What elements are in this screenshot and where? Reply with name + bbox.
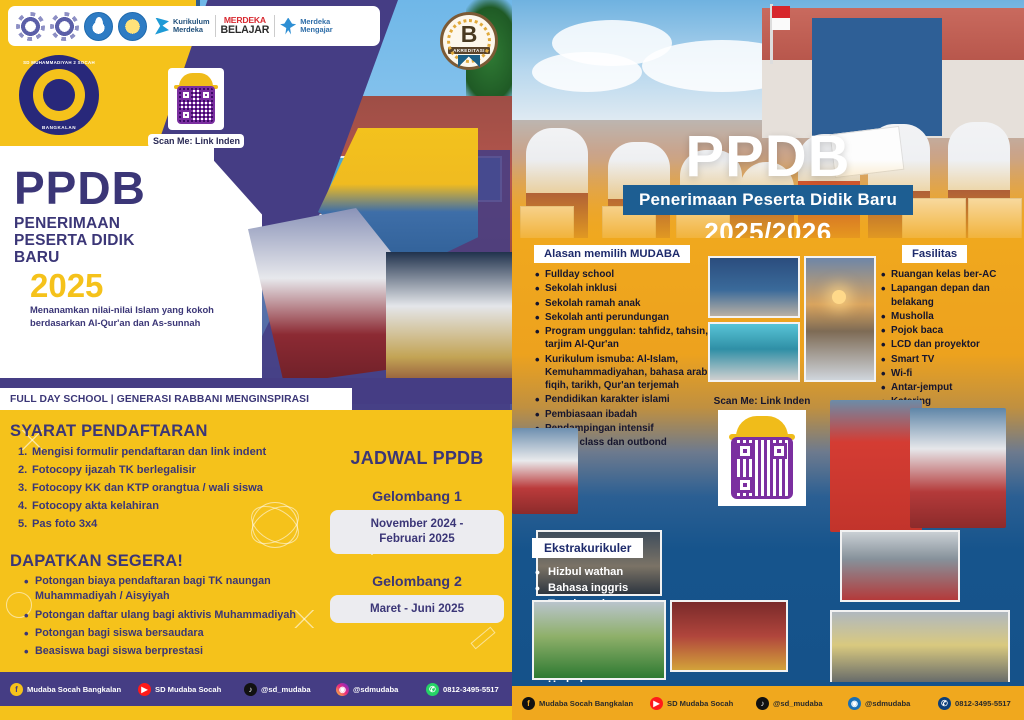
wave-1-period-line2: Februari 2025 — [336, 532, 498, 547]
footer-facebook[interactable]: f Mudaba Socah Bangkalan — [522, 697, 650, 710]
right-subtitle-band: Penerimaan Peserta Didik Baru — [623, 185, 913, 215]
merdeka-mengajar-icon — [280, 18, 296, 35]
syarat-item-4: Fotocopy akta kelahiran — [32, 500, 159, 512]
instagram-icon: ◉ — [848, 697, 861, 710]
merdeka-belajar-logo: MERDEKA BELAJAR — [221, 16, 270, 35]
list-item: Bahasa inggris — [532, 580, 712, 596]
list-item: Ruangan kelas ber-AC — [880, 268, 1024, 281]
kurikulum-merdeka-icon — [152, 18, 169, 35]
left-info-section: SYARAT PENDAFTARAN 1.Mengisi formulir pe… — [0, 410, 512, 672]
left-subtitle-line1: PENERIMAAN — [14, 215, 229, 232]
divider — [274, 15, 275, 37]
footer-whatsapp[interactable]: ✆ 0812-3495-5517 — [426, 683, 499, 696]
list-item: Sekolah inklusi — [534, 282, 714, 295]
dapatkan-heading: DAPATKAN SEGERA! — [10, 552, 328, 571]
footer-instagram-label: @sdmudaba — [865, 699, 910, 708]
list-item: Antar-jemput — [880, 381, 1024, 394]
pencil-doodle-icon — [470, 627, 495, 650]
right-poster: PPDB Penerimaan Peserta Didik Baru 2025/… — [512, 0, 1024, 720]
aisyiyah-sun-logo-2-icon — [50, 12, 79, 41]
qr-code-block-right[interactable]: Scan Me: Link Inden — [702, 396, 822, 506]
badge-ribbon-icon — [458, 55, 480, 69]
left-footer-social-bar: f Mudaba Socah Bangkalan ▶ SD Mudaba Soc… — [0, 672, 512, 706]
facebook-icon: f — [10, 683, 23, 696]
wave-2-period: Maret - Juni 2025 — [330, 595, 504, 624]
syarat-item-3: Fotocopy KK dan KTP orangtua / wali sisw… — [32, 482, 263, 494]
footer-instagram[interactable]: ◉ @sdmudaba — [848, 697, 938, 710]
list-item: Musholla — [880, 310, 1024, 323]
alasan-heading: Alasan memilih MUDABA — [534, 245, 690, 263]
syarat-list: 1.Mengisi formulir pendaftaran dan link … — [18, 444, 328, 534]
wave-1-period: November 2024 - Februari 2025 — [330, 510, 504, 554]
alasan-column: Alasan memilih MUDABA Fullday school Sek… — [534, 244, 714, 450]
slogan-text: FULL DAY SCHOOL | GENERASI RABBANI MENGI… — [0, 394, 309, 405]
list-item: 3.Fotocopy KK dan KTP orangtua / wali si… — [18, 480, 328, 498]
right-hero-text: PPDB Penerimaan Peserta Didik Baru 2025/… — [512, 130, 1024, 248]
accreditation-badge: B AKREDITASI — [440, 12, 498, 70]
syarat-item-2: Fotocopy ijazah TK berlegalisir — [32, 464, 196, 476]
fasilitas-column: Fasilitas Ruangan kelas ber-AC Lapangan … — [880, 244, 1024, 424]
footer-youtube-label: SD Mudaba Socah — [155, 685, 221, 694]
photo-hizbul-wathan — [532, 600, 666, 680]
qr-caption-right: Scan Me: Link Inden — [702, 396, 822, 407]
left-tagline-line1: Menanamkan nilai-nilai Islam yang kokoh — [30, 304, 229, 316]
list-item: Kurikulum ismuba: Al-Islam, Kemuhammadiy… — [534, 353, 714, 393]
activity-photo-cluster-top — [708, 256, 876, 388]
photo-student-left — [512, 428, 578, 514]
merdeka-mengajar-line2: Mengajar — [300, 26, 332, 34]
school-crest-logo: SD MUHAMMADIYAH 2 SOCAH BANGKALAN — [16, 52, 102, 138]
footer-tiktok[interactable]: ♪ @sd_mudaba — [756, 697, 848, 710]
list-item: Sekolah anti perundungan — [534, 311, 714, 324]
right-content-body: Alasan memilih MUDABA Fullday school Sek… — [512, 238, 1024, 684]
whatsapp-icon: ✆ — [426, 683, 439, 696]
list-item: 4.Fotocopy akta kelahiran — [18, 498, 328, 516]
list-item: LCD dan proyektor — [880, 338, 1024, 351]
left-subtitle-line2: PESERTA DIDIK — [14, 232, 229, 249]
qr-card-right[interactable] — [718, 410, 806, 506]
crest-bottom-text: BANGKALAN — [42, 125, 76, 130]
wave-1-label: Gelombang 1 — [330, 489, 504, 505]
left-subtitle-line3: BARU — [14, 249, 229, 266]
list-item: Pembiasaan ibadah — [534, 408, 714, 421]
list-item: 5.Pas foto 3x4 — [18, 516, 328, 534]
youtube-icon: ▶ — [138, 683, 151, 696]
kurikulum-merdeka-line2: Merdeka — [173, 26, 210, 34]
qr-card[interactable] — [168, 68, 224, 130]
whatsapp-icon: ✆ — [938, 697, 951, 710]
cloud — [532, 52, 642, 92]
list-item: Lapangan depan dan belakang — [880, 282, 1024, 309]
photo-student-certificate — [910, 408, 1006, 528]
list-item: Sekolah ramah anak — [534, 297, 714, 310]
dapatkan-list: Potongan biaya pendaftaran bagi TK naung… — [24, 574, 328, 660]
footer-facebook[interactable]: f Mudaba Socah Bangkalan — [10, 683, 138, 696]
list-item: Hizbul wathan — [532, 564, 712, 580]
photo-classroom-teaching — [830, 610, 1010, 688]
footer-tiktok-label: @sd_mudaba — [773, 699, 823, 708]
list-item: Program unggulan: tahfidz, tahsin, tarji… — [534, 325, 714, 352]
syarat-heading: SYARAT PENDAFTARAN — [10, 422, 328, 441]
partner-logos-strip: Kurikulum Merdeka MERDEKA BELAJAR Merdek… — [8, 6, 380, 46]
qr-eye-top-left — [737, 443, 753, 459]
footer-youtube-label: SD Mudaba Socah — [667, 699, 733, 708]
qr-eye-bottom-left — [181, 110, 191, 120]
sun — [832, 290, 846, 304]
syarat-item-1: Mengisi formulir pendaftaran dan link in… — [32, 446, 266, 458]
left-title-ppdb: PPDB — [14, 166, 229, 210]
footer-facebook-label: Mudaba Socah Bangkalan — [539, 699, 633, 708]
photo-sunset-event — [804, 256, 876, 382]
two-poster-canvas: Kurikulum Merdeka MERDEKA BELAJAR Merdek… — [0, 0, 1024, 720]
right-footer-social-bar: f Mudaba Socah Bangkalan ▶ SD Mudaba Soc… — [512, 686, 1024, 720]
qr-caption-left: Scan Me: Link Inden — [148, 134, 244, 148]
tut-wuri-handayani-logo-icon — [84, 12, 113, 41]
list-item: Pojok baca — [880, 324, 1024, 337]
qr-eye-top-left — [181, 90, 191, 100]
footer-instagram[interactable]: ◉ @sdmudaba — [336, 683, 426, 696]
left-year: 2025 — [30, 269, 229, 302]
list-item: Smart TV — [880, 353, 1024, 366]
photo-store-group — [708, 322, 800, 382]
list-item: Beasiswa bagi siswa berprestasi — [24, 644, 328, 659]
ekstrakurikuler-heading: Ekstrakurikuler — [532, 538, 643, 558]
qr-code-icon[interactable] — [731, 437, 793, 499]
footer-tiktok[interactable]: ♪ @sd_mudaba — [244, 683, 336, 696]
indonesian-flag — [772, 6, 790, 18]
wave-1-period-line1: November 2024 - — [336, 517, 498, 532]
left-hero-text: PPDB PENERIMAAN PESERTA DIDIK BARU 2025 … — [14, 166, 229, 329]
footer-tiktok-label: @sd_mudaba — [261, 685, 311, 694]
requirements-column: SYARAT PENDAFTARAN 1.Mengisi formulir pe… — [10, 422, 328, 662]
wave-2-label: Gelombang 2 — [330, 574, 504, 590]
qr-code-icon[interactable] — [177, 86, 215, 124]
tiktok-icon: ♪ — [244, 683, 257, 696]
list-item: 2.Fotocopy ijazah TK berlegalisir — [18, 462, 328, 480]
footer-youtube[interactable]: ▶ SD Mudaba Socah — [650, 697, 756, 710]
qr-eye-bottom-left — [737, 477, 753, 493]
alasan-list: Fullday school Sekolah inklusi Sekolah r… — [534, 268, 714, 449]
left-poster: Kurikulum Merdeka MERDEKA BELAJAR Merdek… — [0, 0, 512, 720]
schedule-column: JADWAL PPDB Gelombang 1 November 2024 - … — [330, 448, 504, 623]
qr-eye-top-right — [201, 90, 211, 100]
footer-whatsapp-label: 0812-3495-5517 — [955, 699, 1011, 708]
slogan-bar: FULL DAY SCHOOL | GENERASI RABBANI MENGI… — [0, 388, 352, 410]
merdeka-mengajar-logo: Merdeka Mengajar — [280, 18, 332, 35]
instagram-icon: ◉ — [336, 683, 349, 696]
list-item: Potongan daftar ulang bagi aktivis Muham… — [24, 608, 328, 623]
qr-code-block-left[interactable]: Scan Me: Link Inden — [168, 68, 224, 148]
divider — [215, 15, 216, 37]
footer-instagram-label: @sdmudaba — [353, 685, 398, 694]
list-item: Pendidikan karakter islami — [534, 393, 714, 406]
left-tagline-line2: berdasarkan Al-Qur'an dan As-sunnah — [30, 317, 229, 329]
fasilitas-heading: Fasilitas — [902, 245, 967, 263]
photo-tapak-suci — [840, 530, 960, 602]
indonesian-flag-white — [772, 18, 790, 30]
youtube-icon: ▶ — [650, 697, 663, 710]
muhammadiyah-sun-logo-1-icon — [16, 12, 45, 41]
crest-top-text: SD MUHAMMADIYAH 2 SOCAH — [23, 60, 95, 65]
facebook-icon: f — [522, 697, 535, 710]
qr-eye-top-right — [771, 443, 787, 459]
footer-whatsapp[interactable]: ✆ 0812-3495-5517 — [938, 697, 1011, 710]
kabupaten-bangkalan-logo-icon — [118, 12, 147, 41]
crest-sun-icon — [33, 69, 85, 121]
wave-2-period-line1: Maret - Juni 2025 — [336, 602, 498, 617]
photo-monument-group — [708, 256, 800, 318]
footer-whatsapp-label: 0812-3495-5517 — [443, 685, 499, 694]
photo-student-medal — [830, 400, 922, 532]
kurikulum-merdeka-logo: Kurikulum Merdeka — [152, 18, 210, 35]
left-footer-accent-bar — [0, 706, 512, 720]
list-item: 1.Mengisi formulir pendaftaran dan link … — [18, 444, 328, 462]
footer-youtube[interactable]: ▶ SD Mudaba Socah — [138, 683, 244, 696]
jadwal-heading: JADWAL PPDB — [330, 448, 504, 469]
syarat-item-5: Pas foto 3x4 — [32, 518, 97, 530]
photo-performance — [670, 600, 788, 672]
tiktok-icon: ♪ — [756, 697, 769, 710]
list-item: Potongan bagi siswa bersaudara — [24, 626, 328, 641]
footer-facebook-label: Mudaba Socah Bangkalan — [27, 685, 121, 694]
list-item: Wi-fi — [880, 367, 1024, 380]
list-item: Fullday school — [534, 268, 714, 281]
right-title-ppdb: PPDB — [512, 130, 1024, 183]
merdeka-belajar-line2: BELAJAR — [221, 25, 270, 36]
list-item: Potongan biaya pendaftaran bagi TK naung… — [24, 574, 328, 605]
